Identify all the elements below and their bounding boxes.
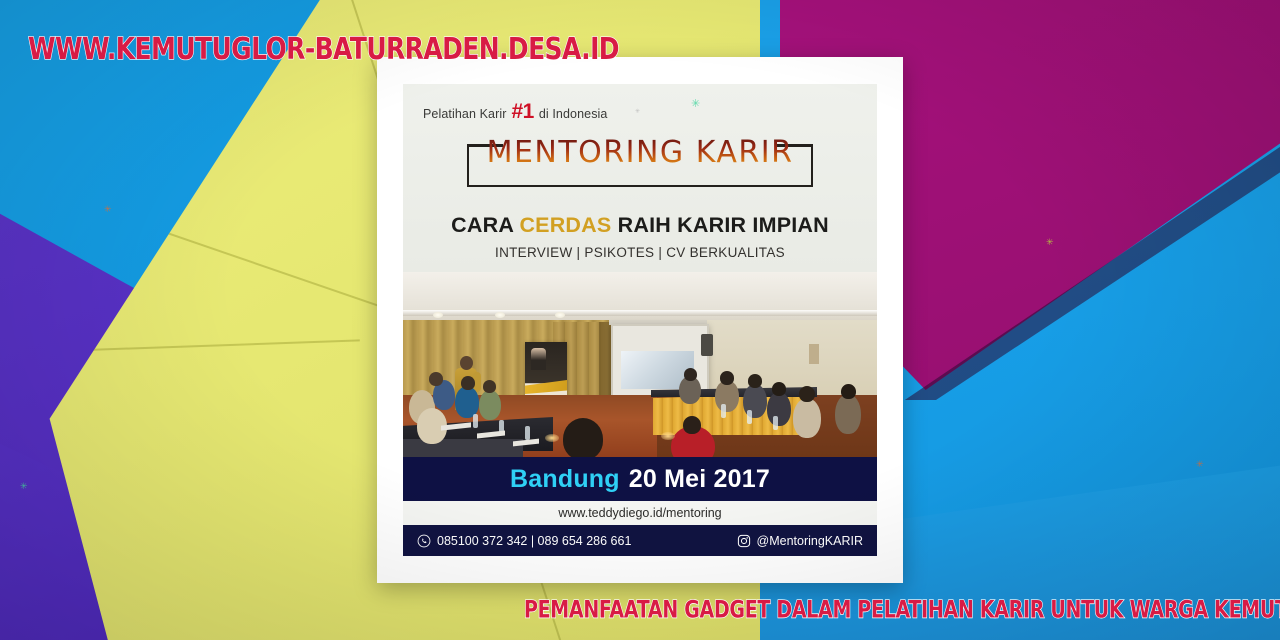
whatsapp-icon	[417, 534, 431, 548]
date-band: Bandung 20 Mei 2017	[403, 457, 877, 501]
screenshot-stage: ✳ ✳ ✳ ✳ ✳ ✳ ✳ ✳ Pelatihan Karir #1 di In…	[0, 0, 1280, 640]
phone-numbers: 085100 372 342 | 089 654 286 661	[437, 534, 631, 548]
headline-part-1: CARA	[451, 213, 513, 237]
instagram-contact[interactable]: @MentoringKARIR	[737, 534, 863, 548]
phone-contact[interactable]: 085100 372 342 | 089 654 286 661	[417, 534, 631, 548]
poster-card: ✳ ✳ Pelatihan Karir #1 di Indonesia MENT…	[377, 57, 903, 583]
headline-part-2: RAIH KARIR IMPIAN	[618, 213, 829, 237]
poster-headline: CARA CERDAS RAIH KARIR IMPIAN	[413, 213, 867, 238]
kicker-after: di Indonesia	[539, 107, 608, 121]
seminar-photo	[403, 272, 877, 457]
poster-header: ✳ ✳ Pelatihan Karir #1 di Indonesia MENT…	[403, 84, 877, 272]
watermark-top: WWW.KEMUTUGLOR-BATURRADEN.DESA.ID	[28, 31, 619, 66]
poster-subline: INTERVIEW | PSIKOTES | CV BERKUALITAS	[413, 245, 867, 260]
kicker-before: Pelatihan Karir	[423, 107, 507, 121]
instagram-handle: @MentoringKARIR	[757, 534, 863, 548]
website-band[interactable]: www.teddydiego.id/mentoring	[403, 501, 877, 525]
decorative-dot-icon: ✳	[635, 108, 640, 117]
instagram-icon	[737, 534, 751, 548]
poster-title: MENTORING KARIR	[467, 135, 813, 170]
watermark-bottom: PEMANFAATAN GADGET DALAM PELATIHAN KARIR…	[524, 596, 1280, 624]
headline-highlight: CERDAS	[519, 213, 611, 237]
event-city: Bandung	[510, 465, 620, 494]
decorative-star-icon: ✳	[691, 100, 700, 109]
poster: ✳ ✳ Pelatihan Karir #1 di Indonesia MENT…	[403, 84, 877, 556]
poster-title-box: MENTORING KARIR	[467, 144, 813, 187]
contact-band: 085100 372 342 | 089 654 286 661 @Mentor…	[403, 525, 877, 556]
kicker-rank: #1	[512, 100, 534, 124]
website-url[interactable]: www.teddydiego.id/mentoring	[558, 506, 721, 520]
event-date: 20 Mei 2017	[629, 465, 770, 494]
